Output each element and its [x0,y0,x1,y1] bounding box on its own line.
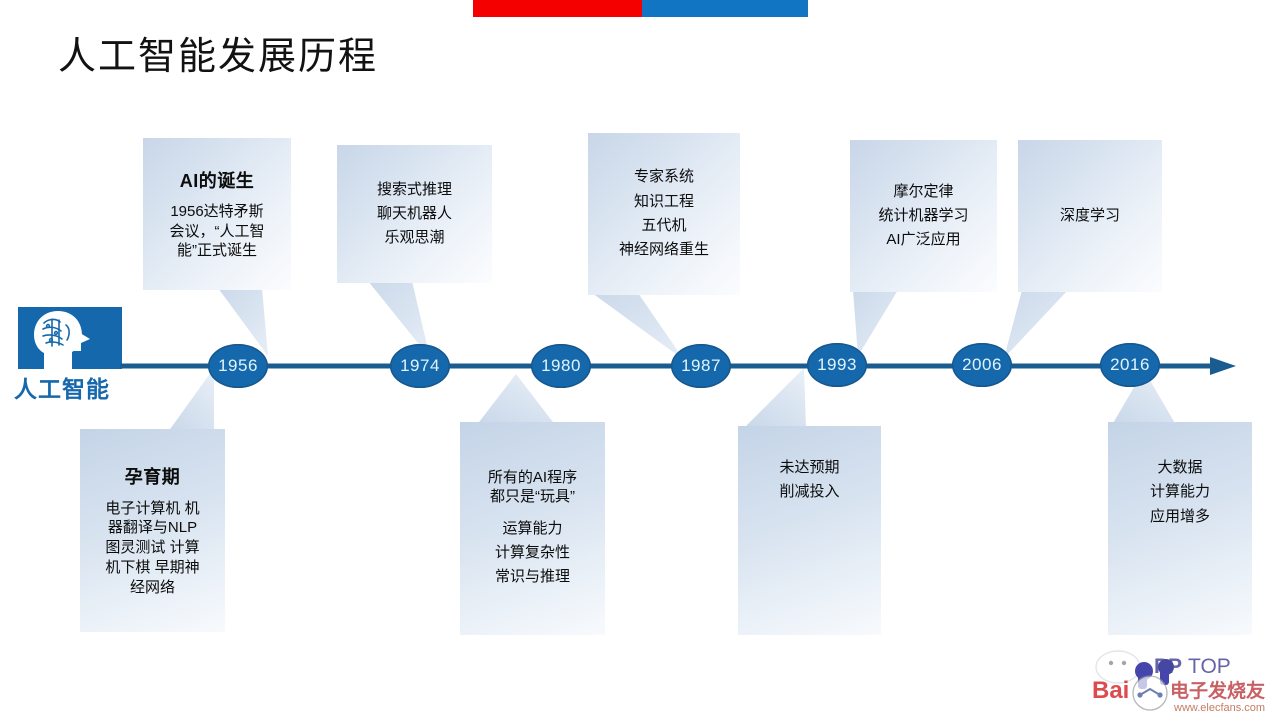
timeline-node-1987[interactable]: 1987 [671,344,731,388]
callout-gestation-line-1: 电子计算机 机 [105,499,199,519]
callout-gestation-line-3: 图灵测试 计算 [105,538,199,558]
callout-big-data-line-2: 计算能力 [1150,480,1210,504]
callout-toys-only-line-4: 计算复杂性 [495,541,570,565]
timeline-node-1956[interactable]: 1956 [208,344,268,388]
callout-search-reasoning-line-3: 乐观思潮 [384,226,444,250]
callout-gestation-line-5: 经网络 [130,578,175,598]
elecfans-cn-text: 电子发烧友 [1170,679,1265,702]
callout-tails-bottom [168,368,1176,432]
timeline-node-2016[interactable]: 2016 [1100,343,1160,387]
callout-toys-only-line-2: 都只是“玩具” [490,487,575,507]
callout-expert-systems-line-2: 知识工程 [634,190,694,214]
top-accent-bar [473,0,808,17]
callout-moores-law-line-2: 统计机器学习 [878,204,968,228]
page-title: 人工智能发展历程 [58,34,378,80]
callout-gestation[interactable]: 孕育期 电子计算机 机 器翻译与NLP 图灵测试 计算 机下棋 早期神 经网络 [80,429,225,632]
callout-expert-systems-line-3: 五代机 [641,214,686,238]
callout-gestation-title: 孕育期 [125,463,181,492]
elecfans-mark [1133,676,1167,710]
callout-gestation-line-4: 机下棋 早期神 [105,558,199,578]
top-accent-bar-red [473,0,642,17]
callout-below-expect[interactable]: 未达预期 削减投入 [738,426,881,635]
callout-moores-law-line-3: AI广泛应用 [886,228,960,252]
callout-moores-law-line-1: 摩尔定律 [893,180,953,204]
callout-deep-learning-line-1: 深度学习 [1060,204,1120,228]
callout-ai-birth-title: AI的诞生 [180,167,255,196]
timeline-node-1993[interactable]: 1993 [807,343,867,387]
pptop-text: PP [1154,655,1182,678]
callout-toys-only-line-1: 所有的AI程序 [488,468,577,488]
callout-search-reasoning-line-1: 搜索式推理 [377,178,452,202]
svg-text:TOP: TOP [1188,655,1231,678]
ai-badge-label: 人工智能 [14,370,110,404]
watermark-cluster: PP TOP Bai 电子发烧友 www.elecfans.com [1092,645,1280,717]
callout-below-expect-line-2: 削减投入 [779,480,839,504]
callout-search-reasoning[interactable]: 搜索式推理 聊天机器人 乐观思潮 [337,145,492,283]
callout-ai-birth-line-3: 能”正式诞生 [177,241,257,261]
callout-toys-only-line-5: 常识与推理 [495,565,570,589]
timeline-node-1974[interactable]: 1974 [390,344,450,388]
slide-canvas: 人工智能发展历程 人工智能 [0,0,1280,720]
callout-expert-systems[interactable]: 专家系统 知识工程 五代机 神经网络重生 [588,133,740,295]
callout-toys-only-line-3: 运算能力 [502,517,562,541]
callout-deep-learning[interactable]: 深度学习 [1018,140,1162,292]
top-accent-bar-blue [642,0,808,17]
callout-ai-birth-line-1: 1956达特矛斯 [170,202,263,222]
callout-big-data-line-3: 应用增多 [1150,505,1210,529]
callout-ai-birth[interactable]: AI的诞生 1956达特矛斯 会议，“人工智 能”正式诞生 [143,138,291,290]
callout-expert-systems-line-1: 专家系统 [634,165,694,189]
callout-big-data[interactable]: 大数据 计算能力 应用增多 [1108,422,1252,635]
callout-expert-systems-line-4: 神经网络重生 [619,238,709,262]
callout-big-data-line-1: 大数据 [1157,456,1202,480]
callout-moores-law[interactable]: 摩尔定律 统计机器学习 AI广泛应用 [850,140,997,292]
timeline-node-2006[interactable]: 2006 [952,343,1012,387]
baidu-logo-text: Bai [1092,677,1129,704]
callout-gestation-line-2: 器翻译与NLP [108,518,197,538]
right-arrow-icon [1210,357,1236,375]
callout-below-expect-line-1: 未达预期 [779,456,839,480]
ai-head-brain-icon [18,307,122,369]
callout-toys-only[interactable]: 所有的AI程序 都只是“玩具” 运算能力 计算复杂性 常识与推理 [460,422,605,635]
callout-ai-birth-line-2: 会议，“人工智 [170,222,265,242]
callout-search-reasoning-line-2: 聊天机器人 [377,202,452,226]
timeline-node-1980[interactable]: 1980 [531,344,591,388]
elecfans-url-text: www.elecfans.com [1173,702,1265,714]
